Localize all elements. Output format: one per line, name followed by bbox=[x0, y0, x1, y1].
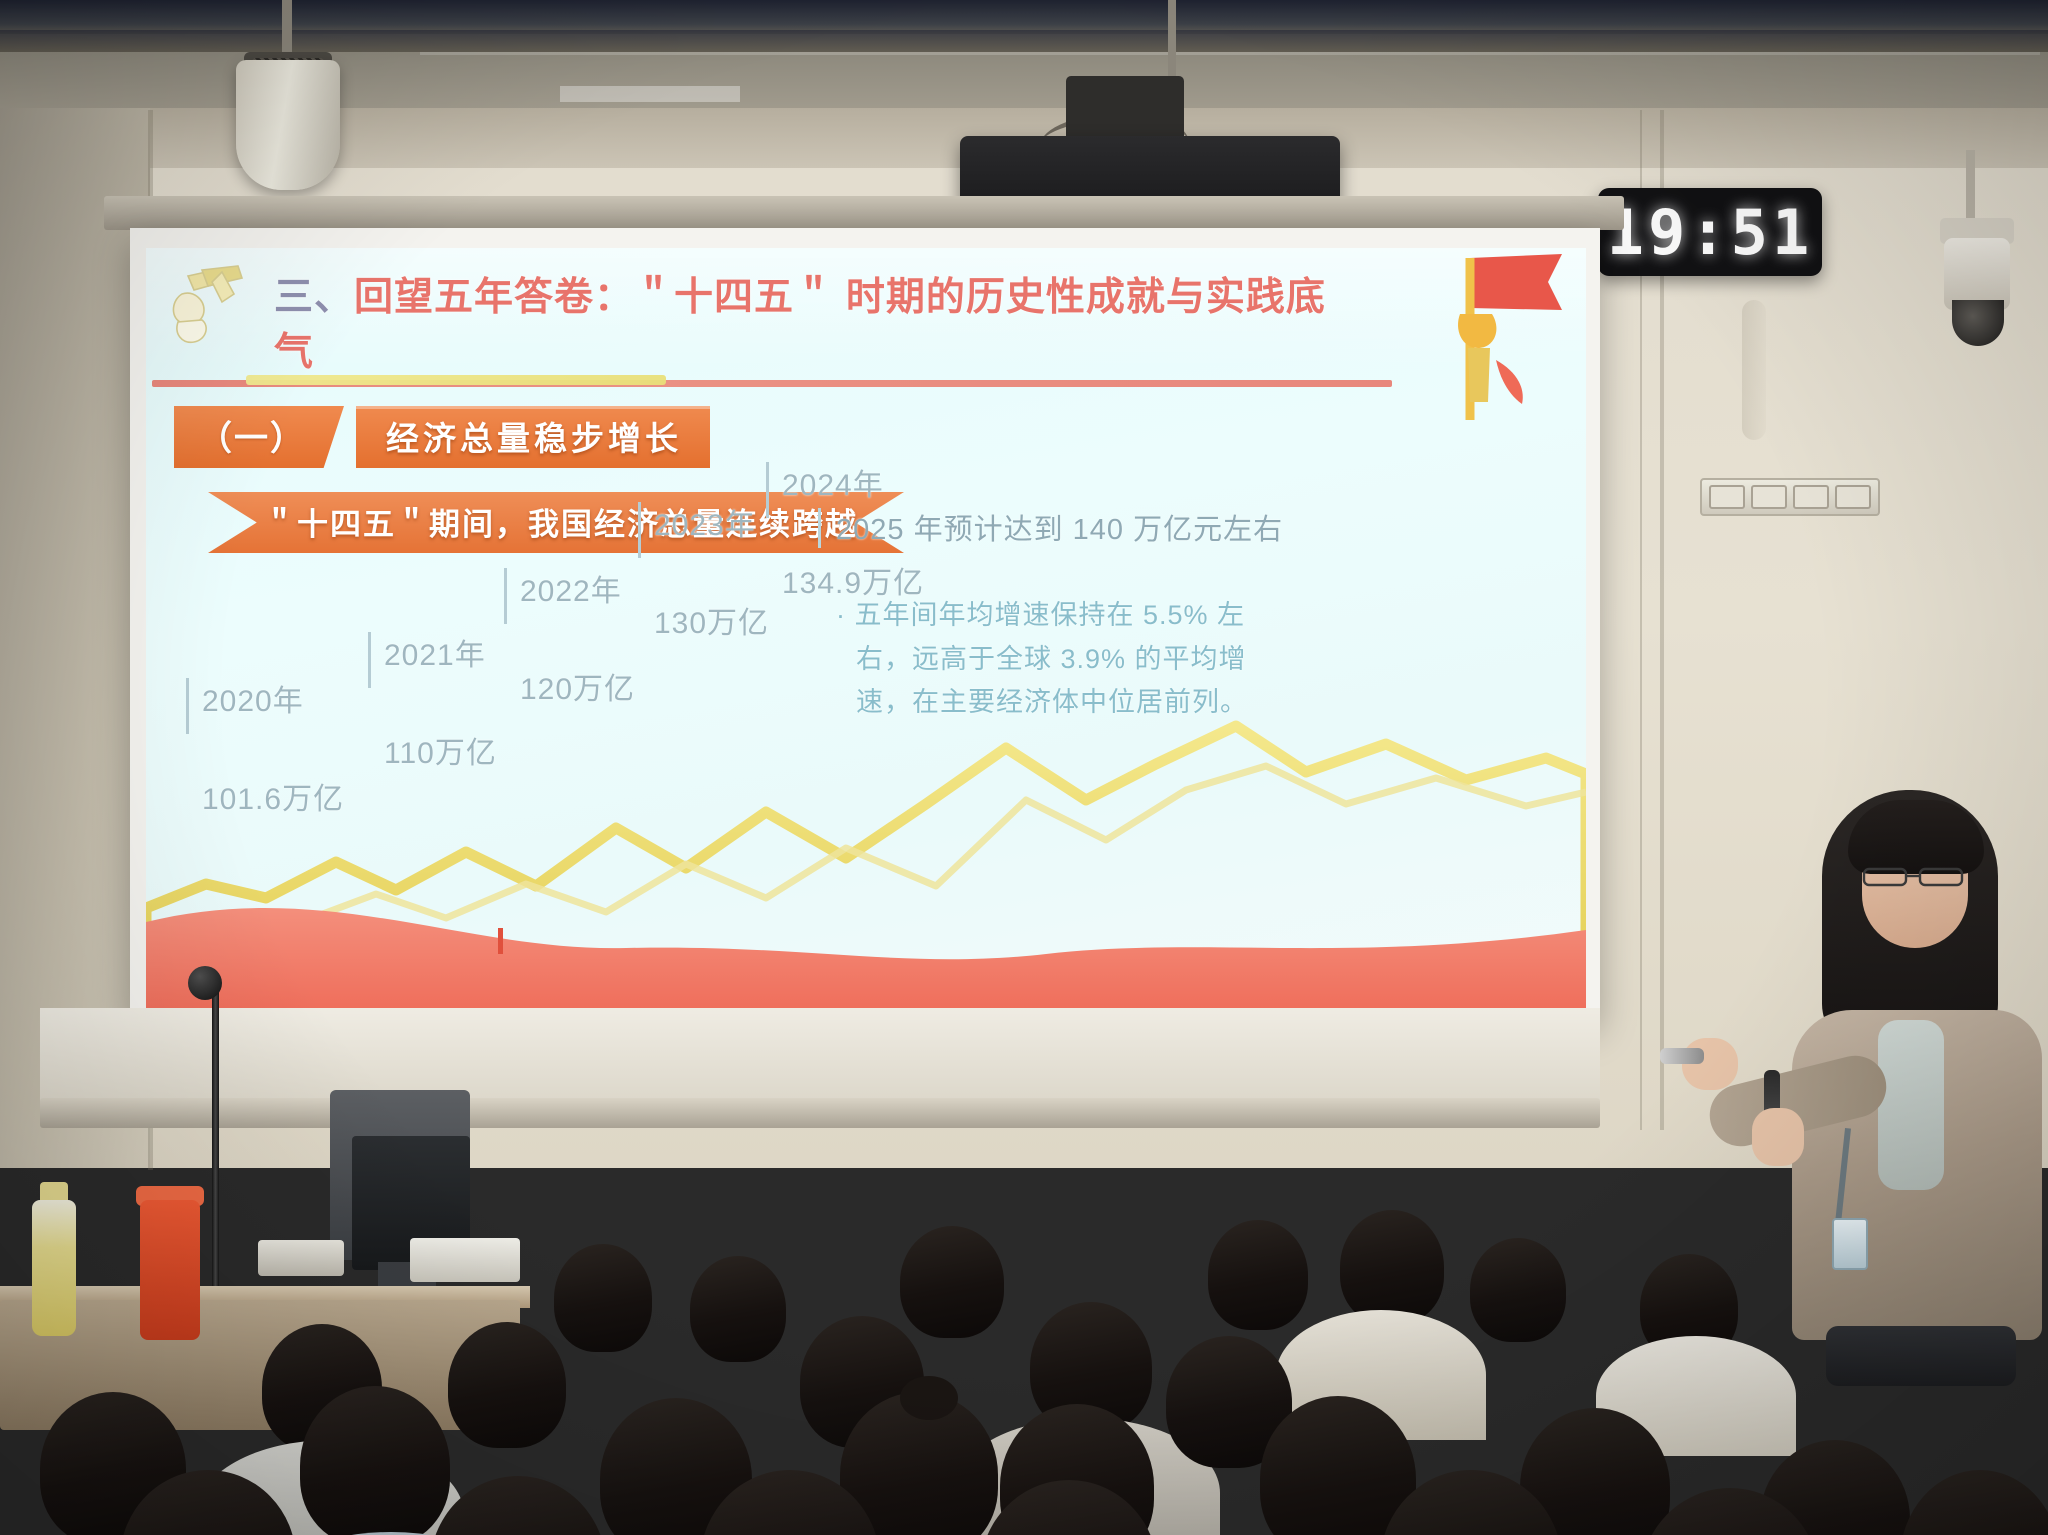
ceiling-beam bbox=[0, 30, 2048, 52]
section-heading: 经济总量稳步增长 bbox=[356, 406, 710, 468]
microphone-icon bbox=[188, 966, 222, 1000]
wall-socket-panel[interactable] bbox=[1700, 478, 1880, 516]
banner-gap bbox=[344, 406, 356, 468]
laser-pointer bbox=[1660, 1048, 1704, 1064]
step-2024: 2024年 134.9万亿 bbox=[782, 460, 924, 602]
step-year: 2021年 bbox=[384, 630, 497, 674]
audience-head bbox=[554, 1244, 652, 1352]
audience-head bbox=[300, 1386, 450, 1535]
projection-screen-skirt bbox=[40, 1008, 1600, 1104]
power-socket[interactable] bbox=[1793, 485, 1829, 509]
ceiling-panel-line bbox=[420, 52, 2040, 55]
audience-head bbox=[690, 1256, 786, 1362]
projection-screen-roller bbox=[104, 196, 1624, 230]
audience-head bbox=[1470, 1238, 1566, 1342]
step-2023: 2023年 130万亿 bbox=[654, 500, 769, 642]
power-socket[interactable] bbox=[1835, 485, 1871, 509]
slide-canvas: 三、回望五年答卷：＂十四五＂ 时期的历史性成就与实践底气 （一） 经济总量稳步增… bbox=[146, 248, 1586, 1008]
ceiling-dark-strip bbox=[0, 0, 2048, 34]
audience bbox=[0, 1140, 2048, 1535]
audience-head bbox=[430, 1476, 606, 1535]
ceiling-speaker bbox=[236, 60, 340, 190]
step-year: 2024年 bbox=[782, 460, 924, 504]
section-banner: （一） 经济总量稳步增长 bbox=[174, 406, 710, 468]
bullet-text: · 五年间年均增速保持在 5.5% 左右，远高于全球 3.9% 的平均增速，在主… bbox=[836, 594, 1272, 725]
audience-hair-bun bbox=[900, 1376, 958, 1420]
title-underline-accent bbox=[246, 375, 666, 385]
glasses-icon bbox=[1862, 866, 1966, 888]
step-tick bbox=[638, 502, 641, 558]
step-2022: 2022年 120万亿 bbox=[520, 566, 635, 708]
torch-flag-icon bbox=[1444, 252, 1572, 442]
bullet-text-content: 五年间年均增速保持在 5.5% 左右，远高于全球 3.9% 的平均增速，在主要经… bbox=[855, 600, 1249, 717]
audience-head bbox=[1340, 1210, 1444, 1324]
projector-mount bbox=[1066, 76, 1184, 142]
audience-head bbox=[1900, 1470, 2048, 1535]
step-value: 120万亿 bbox=[520, 664, 635, 708]
step-tick bbox=[368, 632, 371, 688]
mountain-illustration bbox=[146, 708, 1586, 1008]
wall-pipe-shadow bbox=[1742, 300, 1766, 440]
lecture-hall-scene: 19:51 三、回望五年答卷：＂十四五＂ 时期的历史性成 bbox=[0, 0, 2048, 1535]
slide-title: 三、回望五年答卷：＂十四五＂ 时期的历史性成就与实践底气 bbox=[274, 270, 1334, 381]
step-year: 2022年 bbox=[520, 566, 635, 610]
power-socket[interactable] bbox=[1751, 485, 1787, 509]
wall-clock: 19:51 bbox=[1598, 188, 1822, 276]
projection-screen-bottom-bar bbox=[40, 1098, 1600, 1128]
presenter-fringe bbox=[1848, 800, 1984, 874]
section-index: （一） bbox=[174, 406, 344, 468]
step-value: 134.9万亿 bbox=[782, 558, 924, 602]
party-emblem-icon bbox=[164, 264, 276, 362]
camera-pole bbox=[1966, 150, 1975, 222]
slide-title-text: 回望五年答卷：＂十四五＂ 时期的历史性成就与实践底气 bbox=[274, 276, 1326, 374]
power-socket[interactable] bbox=[1709, 485, 1745, 509]
step-value: 130万亿 bbox=[654, 598, 769, 642]
audience-head bbox=[900, 1226, 1004, 1338]
audience-head bbox=[1208, 1220, 1308, 1330]
step-tick bbox=[504, 568, 507, 624]
step-year: 2023年 bbox=[654, 500, 769, 544]
ceiling-vent bbox=[560, 86, 740, 102]
clock-time: 19:51 bbox=[1607, 196, 1814, 269]
step-tick bbox=[766, 462, 769, 518]
audience-head bbox=[448, 1322, 566, 1448]
presenter-hand-pointing bbox=[1682, 1038, 1738, 1090]
slide-title-number: 三、 bbox=[274, 276, 354, 319]
